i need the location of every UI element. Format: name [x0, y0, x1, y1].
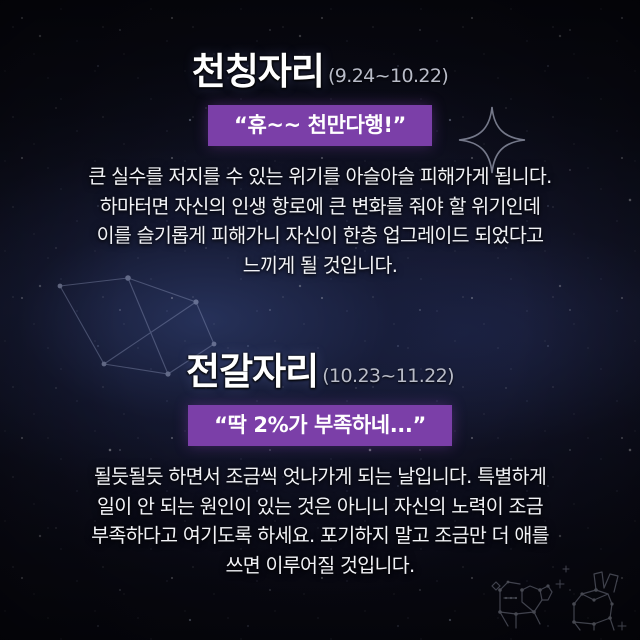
zodiac-date-range: (9.24~10.22) [328, 65, 448, 87]
fortune-headline-badge: “휴~~ 천만다행!” [208, 105, 432, 146]
fortune-body-text: 큰 실수를 저지를 수 있는 위기를 아슬아슬 피해가게 됩니다. 하마터면 자… [0, 162, 640, 281]
rabbit-constellation-icon [574, 572, 618, 630]
body-line: 일이 안 되는 원인이 있는 것은 아니니 자신의 노력이 조금 [22, 492, 618, 522]
body-line: 큰 실수를 저지를 수 있는 위기를 아슬아슬 피해가게 됩니다. [22, 162, 618, 192]
body-line: 이를 슬기롭게 피해가니 자신이 한층 업그레이드 되었다고 [22, 221, 618, 251]
four-pointed-sparkle-icon [456, 104, 528, 176]
zodiac-animals-decoration [482, 560, 634, 638]
zodiac-date-range: (10.23~11.22) [322, 365, 454, 387]
horoscope-section-scorpio: 전갈자리 (10.23~11.22) “딱 2%가 부족하네...” 될듯될듯 … [0, 352, 640, 581]
body-line: 될듯될듯 하면서 조금씩 엇나가게 되는 날입니다. 특별하게 [22, 462, 618, 492]
body-line: 느끼게 될 것입니다. [22, 251, 618, 281]
body-line: 하마터면 자신의 인생 항로에 큰 변화를 줘야 할 위기인데 [22, 192, 618, 222]
body-line: 부족하다고 여기도록 하세요. 포기하지 말고 조금만 더 애를 [22, 521, 618, 551]
section-heading: 전갈자리 (10.23~11.22) [0, 352, 640, 392]
zodiac-sign-name: 전갈자리 [186, 352, 318, 392]
fortune-headline-badge: “딱 2%가 부족하네...” [188, 405, 452, 446]
badge-container: “휴~~ 천만다행!” [0, 105, 640, 146]
horoscope-card: 천칭자리 (9.24~10.22) “휴~~ 천만다행!” 큰 실수를 저지를 … [0, 0, 640, 640]
horoscope-section-libra: 천칭자리 (9.24~10.22) “휴~~ 천만다행!” 큰 실수를 저지를 … [0, 52, 640, 281]
zodiac-sign-name: 천칭자리 [192, 52, 324, 92]
section-heading: 천칭자리 (9.24~10.22) [0, 52, 640, 92]
badge-container: “딱 2%가 부족하네...” [0, 405, 640, 446]
